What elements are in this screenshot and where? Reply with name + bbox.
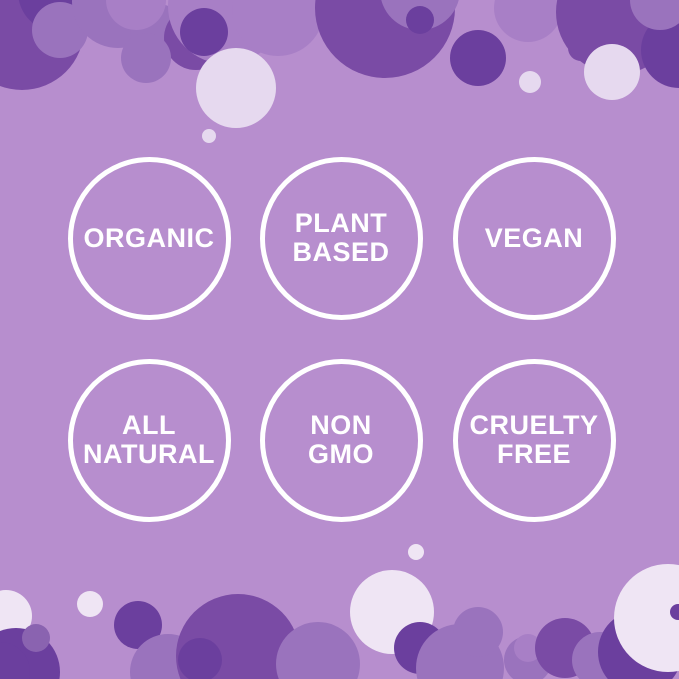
badge-label-non-gmo: NON GMO: [308, 411, 374, 468]
badge-label-cruelty-free: CRUELTY FREE: [470, 411, 599, 468]
badge-plant-based[interactable]: PLANT BASED: [260, 157, 423, 320]
badge-vegan[interactable]: VEGAN: [453, 157, 616, 320]
badge-all-natural[interactable]: ALL NATURAL: [68, 359, 231, 522]
badge-label-all-natural: ALL NATURAL: [83, 411, 215, 468]
badge-organic[interactable]: ORGANIC: [68, 157, 231, 320]
badge-label-vegan: VEGAN: [485, 224, 584, 253]
badge-label-plant-based: PLANT BASED: [292, 209, 389, 266]
badge-non-gmo[interactable]: NON GMO: [260, 359, 423, 522]
badge-label-organic: ORGANIC: [84, 224, 215, 253]
badge-graphic: ORGANICPLANT BASEDVEGANALL NATURALNON GM…: [0, 0, 679, 679]
badge-grid: ORGANICPLANT BASEDVEGANALL NATURALNON GM…: [0, 0, 679, 679]
badge-cruelty-free[interactable]: CRUELTY FREE: [453, 359, 616, 522]
